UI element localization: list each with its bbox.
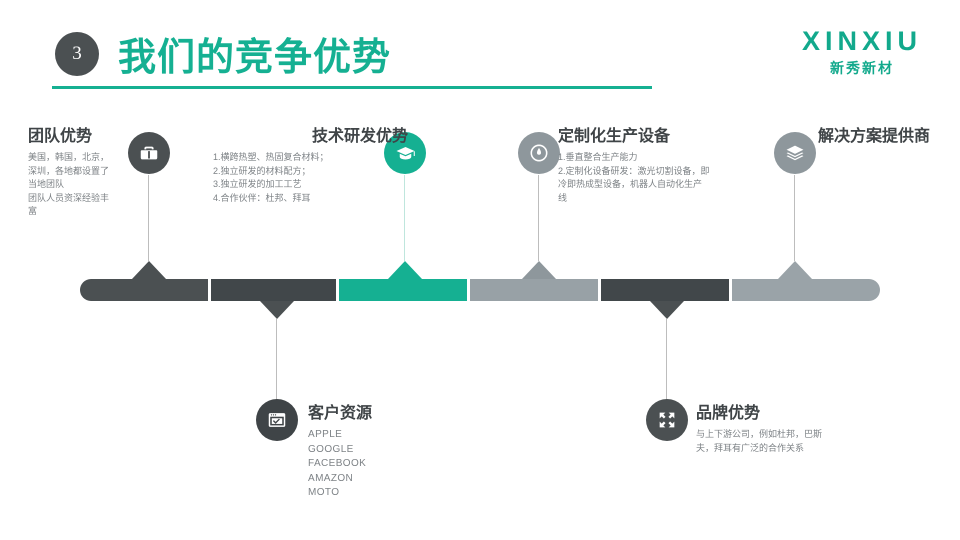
connector-stem-customer bbox=[276, 319, 277, 403]
pointer-triangle-brand bbox=[650, 301, 684, 319]
block-title: 解决方案提供商 bbox=[818, 127, 960, 146]
pointer-triangle-solution bbox=[778, 261, 812, 279]
window-check-icon[interactable] bbox=[256, 399, 298, 441]
pointer-triangle-tech bbox=[388, 261, 422, 279]
block-title: 品牌优势 bbox=[696, 404, 876, 423]
gauge-icon[interactable] bbox=[518, 132, 560, 174]
layers-icon[interactable] bbox=[774, 132, 816, 174]
block-title: 定制化生产设备 bbox=[558, 127, 758, 146]
timeline-segment-1 bbox=[80, 279, 208, 301]
block-team-advantage: 团队优势 美国，韩国，北京， 深圳，各地都设置了 当地团队 团队人员资深经验丰 … bbox=[28, 127, 128, 219]
logo-wordmark: XINXIU bbox=[802, 28, 922, 55]
pointer-triangle-team bbox=[132, 261, 166, 279]
slide-canvas: 3 我们的竞争优势 XINXIU 新秀新材 团队优势 美国，韩国，北京， 深圳，… bbox=[0, 0, 960, 540]
timeline-segment-5 bbox=[601, 279, 729, 301]
block-title: 团队优势 bbox=[28, 127, 128, 146]
block-brand-advantage: 品牌优势 与上下游公司，例如杜邦，巴斯 夫，拜耳有广泛的合作关系 bbox=[696, 404, 876, 455]
timeline-segment-2 bbox=[211, 279, 336, 301]
block-title: 客户资源 bbox=[308, 404, 448, 423]
block-body: 与上下游公司，例如杜邦，巴斯 夫，拜耳有广泛的合作关系 bbox=[696, 428, 876, 455]
company-logo: XINXIU 新秀新材 bbox=[802, 28, 922, 75]
block-body: APPLE GOOGLE FACEBOOK AMAZON MOTO bbox=[308, 428, 448, 501]
pointer-triangle-equipment bbox=[522, 261, 556, 279]
connector-stem-equipment bbox=[538, 175, 539, 261]
timeline-bar bbox=[80, 279, 880, 301]
briefcase-icon[interactable] bbox=[128, 132, 170, 174]
block-customer-resources: 客户资源 APPLE GOOGLE FACEBOOK AMAZON MOTO bbox=[308, 404, 448, 501]
connector-stem-solution bbox=[794, 175, 795, 261]
block-body: 美国，韩国，北京， 深圳，各地都设置了 当地团队 团队人员资深经验丰 富 bbox=[28, 151, 128, 219]
block-body: 1.横跨热塑、热固复合材料； 2.独立研发的材料配方； 3.独立研发的加工工艺 … bbox=[213, 151, 408, 205]
connector-stem-team bbox=[148, 175, 149, 261]
timeline-segment-3 bbox=[339, 279, 467, 301]
block-body: 1.垂直整合生产能力 2.定制化设备研发：激光切割设备，即 冷即热成型设备，机器… bbox=[558, 151, 758, 205]
page-title: 我们的竞争优势 bbox=[118, 26, 391, 81]
timeline-segment-6 bbox=[732, 279, 880, 301]
block-custom-production-equipment: 定制化生产设备 1.垂直整合生产能力 2.定制化设备研发：激光切割设备，即 冷即… bbox=[558, 127, 758, 205]
timeline-segment-4 bbox=[470, 279, 598, 301]
block-title: 技术研发优势 bbox=[213, 127, 408, 146]
title-underline-rule bbox=[52, 86, 652, 89]
block-solution-provider: 解决方案提供商 bbox=[818, 127, 960, 146]
block-tech-rd-advantage: 技术研发优势 1.横跨热塑、热固复合材料； 2.独立研发的材料配方； 3.独立研… bbox=[213, 127, 408, 205]
section-number-badge: 3 bbox=[55, 32, 99, 76]
connector-stem-brand bbox=[666, 319, 667, 403]
expand-arrows-icon[interactable] bbox=[646, 399, 688, 441]
logo-subtitle: 新秀新材 bbox=[802, 61, 922, 75]
pointer-triangle-customer bbox=[260, 301, 294, 319]
